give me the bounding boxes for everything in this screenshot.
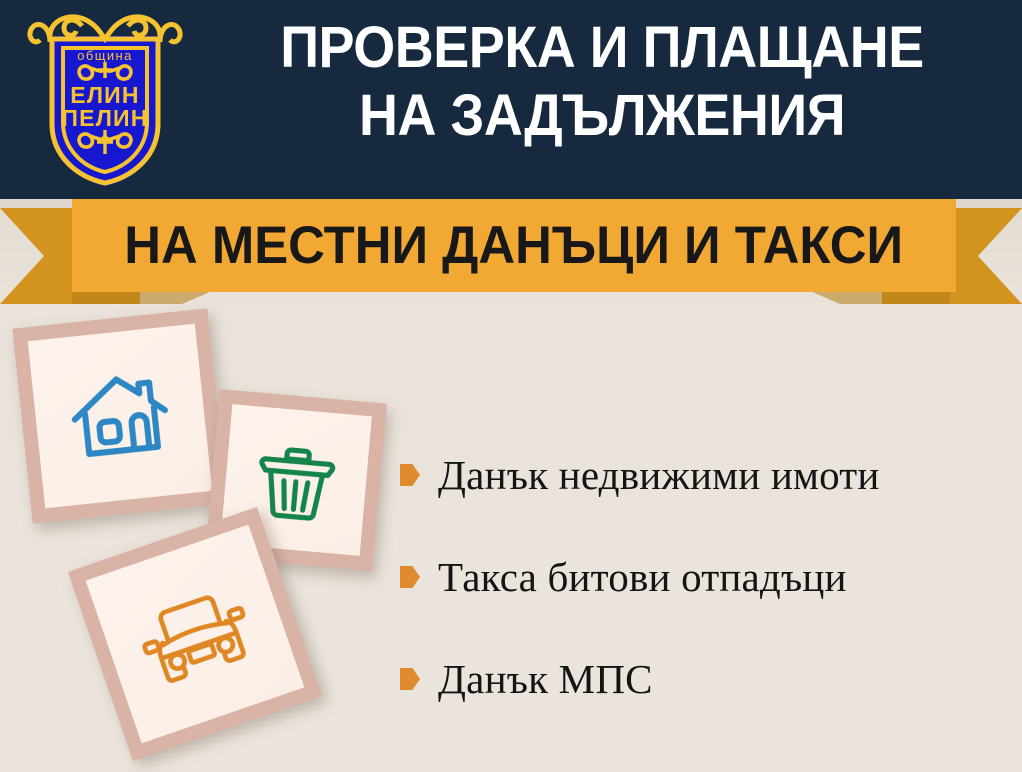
tax-type-list: Данък недвижими имоти Такса битови отпад…	[400, 424, 1000, 730]
page-title-line-2: НА ЗАДЪЛЖЕНИЯ	[224, 82, 979, 150]
bullet-arrow-icon	[400, 668, 420, 690]
list-item-label: Данък МПС	[438, 655, 653, 703]
ribbon-fold-shadow-left	[72, 291, 212, 304]
stamp-house	[12, 308, 227, 523]
stamp-inner-car	[86, 525, 305, 744]
stamp-paper-house	[12, 308, 227, 523]
list-item-label: Такса битови отпадъци	[438, 553, 847, 601]
stamp-inner-house	[28, 324, 213, 509]
elin-pelin-coat-of-arms-logo: община ЕЛИН ПЕЛИН	[20, 6, 190, 192]
ribbon-band: НА МЕСТНИ ДАНЪЦИ И ТАКСИ	[72, 199, 956, 292]
car-front-icon	[124, 563, 266, 705]
bullet-arrow-icon	[400, 464, 420, 486]
subtitle-ribbon: НА МЕСТНИ ДАНЪЦИ И ТАКСИ	[0, 199, 1022, 311]
ribbon-fold-shadow-right	[810, 291, 950, 304]
header-banner: община ЕЛИН ПЕЛИН ПРОВЕРКА И ПЛАЩАНЕ НА …	[0, 0, 1022, 199]
trash-bin-icon	[246, 430, 346, 530]
list-item[interactable]: Данък МПС	[400, 628, 1000, 730]
bullet-arrow-icon	[400, 566, 420, 588]
logo-text-pelin: ПЕЛИН	[61, 105, 148, 131]
page-title: ПРОВЕРКА И ПЛАЩАНЕ НА ЗАДЪЛЖЕНИЯ	[224, 14, 979, 150]
house-icon	[61, 357, 180, 476]
logo-text-obshtina: община	[77, 48, 132, 63]
page-title-line-1: ПРОВЕРКА И ПЛАЩАНЕ	[224, 14, 979, 82]
list-item[interactable]: Данък недвижими имоти	[400, 424, 1000, 526]
list-item-label: Данък недвижими имоти	[438, 451, 880, 499]
ribbon-label: НА МЕСТНИ ДАНЪЦИ И ТАКСИ	[125, 215, 904, 276]
list-item[interactable]: Такса битови отпадъци	[400, 526, 1000, 628]
